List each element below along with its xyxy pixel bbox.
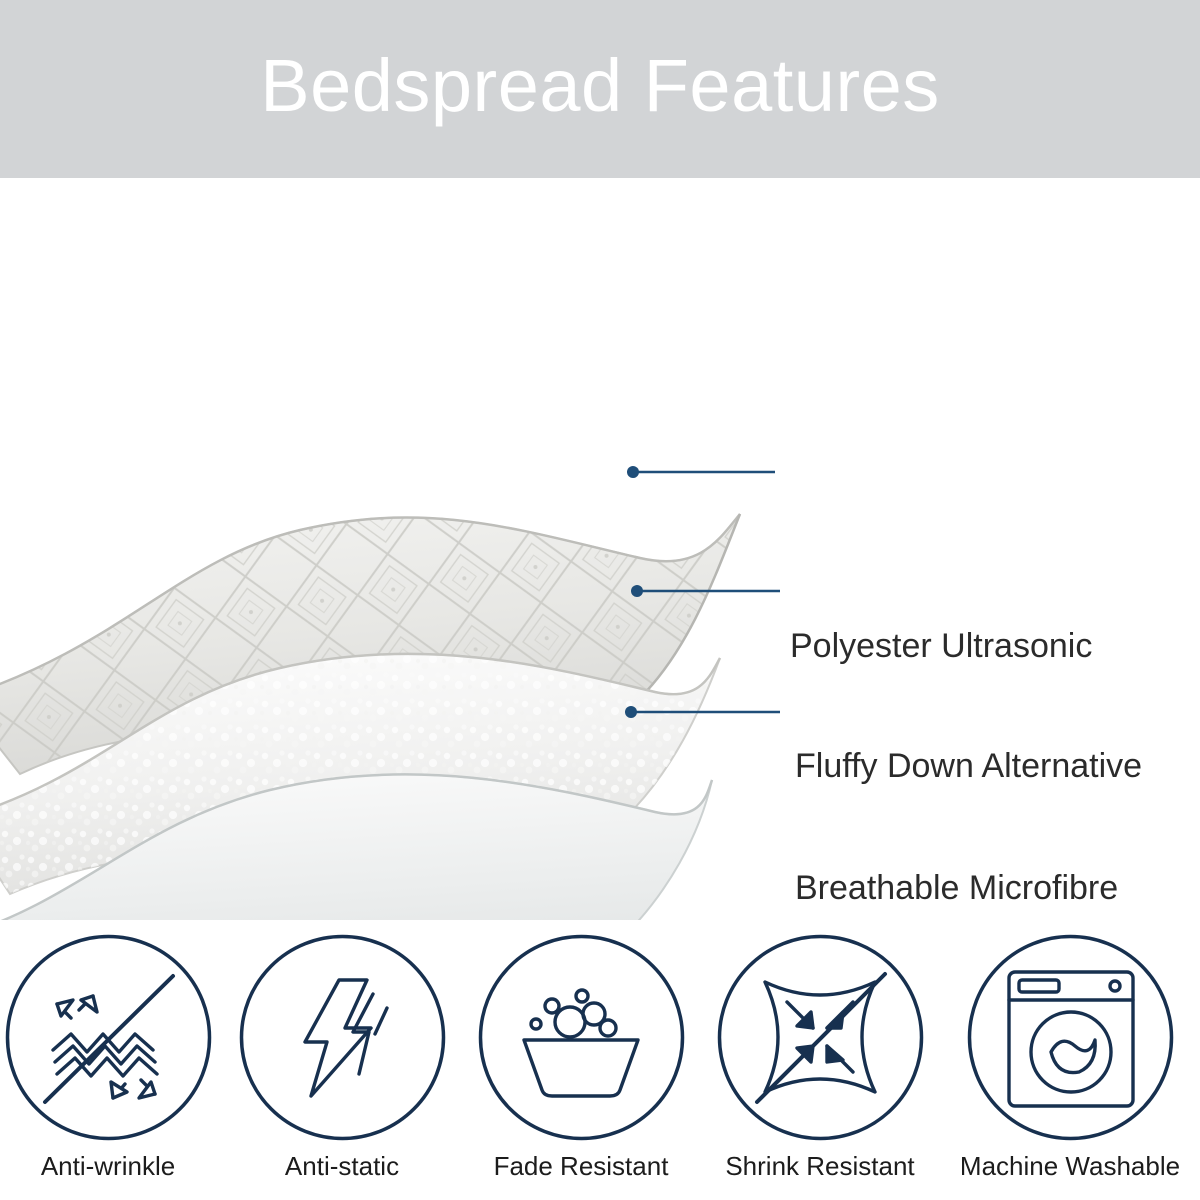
feature-shrink-resistant: Shrink Resistant: [700, 930, 940, 1200]
header-band: Bedspread Features: [0, 0, 1200, 178]
callout-breathable-microfibre: Breathable Microfibre: [795, 868, 1118, 908]
machine-washable-icon: [963, 930, 1178, 1145]
feature-label-anti-static: Anti-static: [222, 1151, 462, 1181]
shrink-resistant-icon: [713, 930, 928, 1145]
fabric-layers-diagram: [0, 178, 1200, 920]
callout-polyester-ultrasonic: Polyester Ultrasonic: [790, 626, 1092, 666]
feature-label-machine-washable: Machine Washable: [950, 1151, 1190, 1181]
feature-anti-static: Anti-static: [222, 930, 462, 1200]
feature-label-anti-wrinkle: Anti-wrinkle: [0, 1151, 228, 1181]
fade-resistant-icon: [474, 930, 689, 1145]
feature-machine-washable: Machine Washable: [950, 930, 1190, 1200]
bedspread-features-infographic: Bedspread Features: [0, 0, 1200, 1200]
feature-anti-wrinkle: Anti-wrinkle: [0, 930, 228, 1200]
feature-label-fade-resistant: Fade Resistant: [461, 1151, 701, 1181]
anti-static-icon: [235, 930, 450, 1145]
feature-icon-row: Anti-wrinkle Anti-static: [0, 930, 1200, 1200]
hero-illustration: Polyester Ultrasonic Fluffy Down Alterna…: [0, 178, 1200, 920]
callout-fluffy-down-alternative: Fluffy Down Alternative: [795, 746, 1142, 786]
feature-fade-resistant: Fade Resistant: [461, 930, 701, 1200]
page-title: Bedspread Features: [0, 38, 1200, 134]
feature-label-shrink-resistant: Shrink Resistant: [700, 1151, 940, 1181]
anti-wrinkle-icon: [1, 930, 216, 1145]
